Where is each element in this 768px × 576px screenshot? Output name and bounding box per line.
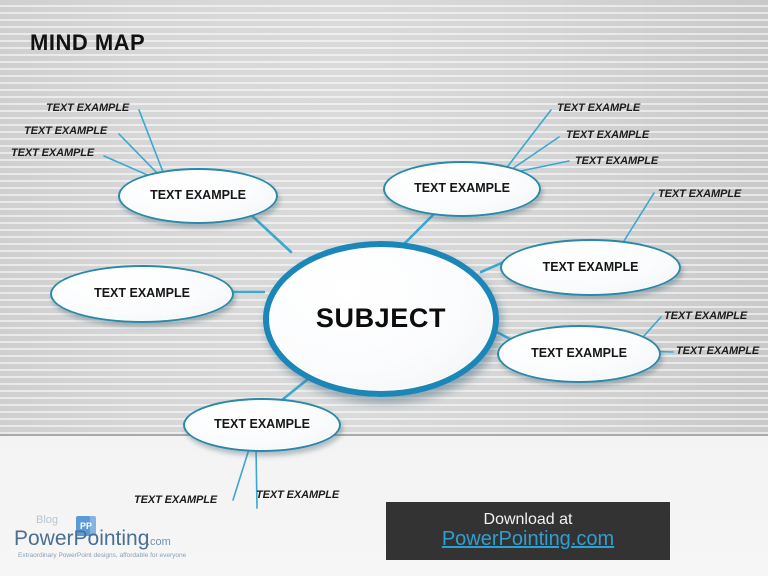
branch-node-left[interactable]: TEXT EXAMPLE [50, 265, 234, 323]
branch-node-label: TEXT EXAMPLE [214, 418, 310, 432]
download-label: Download at [484, 511, 573, 529]
center-node-subject[interactable]: SUBJECT [263, 241, 499, 397]
branch-node-label: TEXT EXAMPLE [531, 347, 627, 361]
branch-node-right-upper[interactable]: TEXT EXAMPLE [500, 239, 681, 296]
logo-blog-text: Blog [36, 514, 58, 526]
center-node-label: SUBJECT [316, 304, 446, 334]
branch-node-top-left[interactable]: TEXT EXAMPLE [118, 168, 278, 224]
logo-tagline: Extraordinary PowerPoint designs, afford… [18, 552, 186, 559]
logo-wordmark: PowerPointing [14, 527, 149, 551]
branch-node-label: TEXT EXAMPLE [150, 189, 246, 203]
branch-node-bottom[interactable]: TEXT EXAMPLE [183, 398, 341, 452]
leaf-label-top-right-3[interactable]: TEXT EXAMPLE [575, 155, 658, 167]
page-title: MIND MAP [30, 30, 145, 56]
download-banner[interactable]: Download at PowerPointing.com [386, 502, 670, 560]
branch-node-label: TEXT EXAMPLE [94, 287, 190, 301]
leaf-label-top-right-2[interactable]: TEXT EXAMPLE [566, 129, 649, 141]
leaf-label-top-left-2[interactable]: TEXT EXAMPLE [24, 125, 107, 137]
slide-canvas: MIND MAP SUBJECTTEXT EXAMPLETEXT EXAMPLE… [0, 0, 768, 576]
horizontal-divider [0, 434, 768, 436]
leaf-label-top-right-1[interactable]: TEXT EXAMPLE [557, 102, 640, 114]
leaf-label-right-lower-2[interactable]: TEXT EXAMPLE [676, 345, 759, 357]
branch-node-label: TEXT EXAMPLE [543, 261, 639, 275]
leaf-label-top-left-3[interactable]: TEXT EXAMPLE [11, 147, 94, 159]
leaf-label-right-upper-1[interactable]: TEXT EXAMPLE [658, 188, 741, 200]
leaf-label-top-left-1[interactable]: TEXT EXAMPLE [46, 102, 129, 114]
branch-node-right-lower[interactable]: TEXT EXAMPLE [497, 325, 661, 383]
leaf-label-bottom-1[interactable]: TEXT EXAMPLE [134, 494, 217, 506]
download-link[interactable]: PowerPointing.com [442, 528, 614, 551]
leaf-label-bottom-2[interactable]: TEXT EXAMPLE [256, 489, 339, 501]
logo-tld: .com [147, 536, 171, 548]
branch-node-top-right[interactable]: TEXT EXAMPLE [383, 161, 541, 217]
branch-node-label: TEXT EXAMPLE [414, 182, 510, 196]
leaf-label-right-lower-1[interactable]: TEXT EXAMPLE [664, 310, 747, 322]
powerpointing-logo[interactable]: Blog PP PowerPointing .com Extraordinary… [14, 514, 194, 564]
